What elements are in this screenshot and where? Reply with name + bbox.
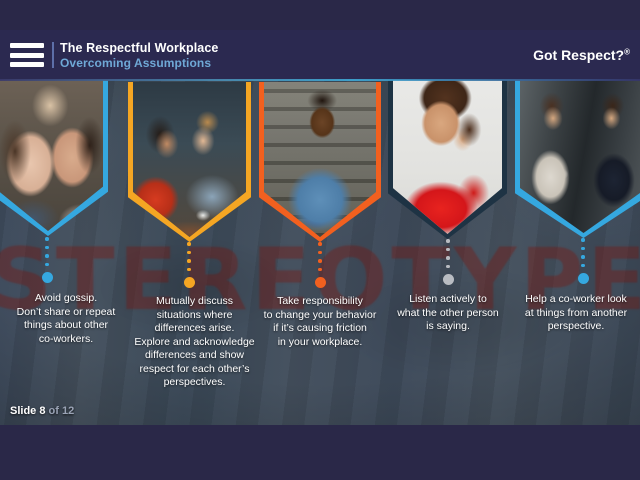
presentation-viewer: STEREOTYPE STEREOTYPE Av bbox=[0, 0, 640, 480]
registered-trademark-icon: ® bbox=[624, 47, 630, 56]
hamburger-bar bbox=[10, 53, 44, 58]
card-1-caption: Avoid gossip.Don’t share or repeatthings… bbox=[2, 292, 130, 346]
card-1[interactable] bbox=[0, 78, 108, 236]
card-3-photo bbox=[264, 82, 376, 237]
hamburger-bar bbox=[10, 43, 44, 48]
slide-header: The Respectful Workplace Overcoming Assu… bbox=[0, 30, 640, 80]
course-title: The Respectful Workplace bbox=[60, 41, 218, 55]
card-3-connector bbox=[315, 242, 325, 288]
card-4-photo bbox=[393, 76, 502, 234]
card-1-connector bbox=[42, 237, 52, 283]
card-5-caption: Help a co-worker lookat things from anot… bbox=[512, 293, 640, 334]
card-5-connector bbox=[578, 238, 588, 284]
photo-detail bbox=[133, 82, 246, 237]
card-3-caption: Take responsibilityto change your behavi… bbox=[256, 295, 384, 349]
card-2-caption: Mutually discusssituations wheredifferen… bbox=[128, 295, 261, 390]
slide-counter: Slide 8 of 12 bbox=[10, 405, 74, 417]
card-4-caption: Listen actively towhat the other personi… bbox=[384, 293, 512, 334]
card-row: Avoid gossip.Don’t share or repeatthings… bbox=[0, 30, 640, 375]
hamburger-bar bbox=[10, 62, 44, 67]
card-2-connector bbox=[184, 242, 194, 288]
course-subtitle: Overcoming Assumptions bbox=[60, 57, 218, 71]
slide-canvas: STEREOTYPE STEREOTYPE Av bbox=[0, 30, 640, 425]
title-block: The Respectful Workplace Overcoming Assu… bbox=[60, 41, 218, 71]
brand-logo: Got Respect?® bbox=[533, 47, 630, 63]
card-3[interactable] bbox=[259, 82, 381, 242]
slide-counter-current: Slide 8 bbox=[10, 405, 45, 417]
header-divider bbox=[52, 42, 54, 68]
slide-counter-total: of 12 bbox=[49, 405, 75, 417]
header-accent-line bbox=[0, 79, 640, 81]
hamburger-menu-icon[interactable] bbox=[10, 42, 44, 68]
card-4[interactable] bbox=[388, 76, 507, 239]
photo-subject-body bbox=[393, 76, 502, 234]
card-2[interactable] bbox=[128, 82, 251, 242]
photo-subject bbox=[264, 82, 376, 237]
brand-name: Got Respect? bbox=[533, 47, 624, 63]
card-5[interactable] bbox=[515, 78, 640, 238]
card-4-connector bbox=[443, 239, 453, 285]
card-2-photo bbox=[133, 82, 246, 237]
